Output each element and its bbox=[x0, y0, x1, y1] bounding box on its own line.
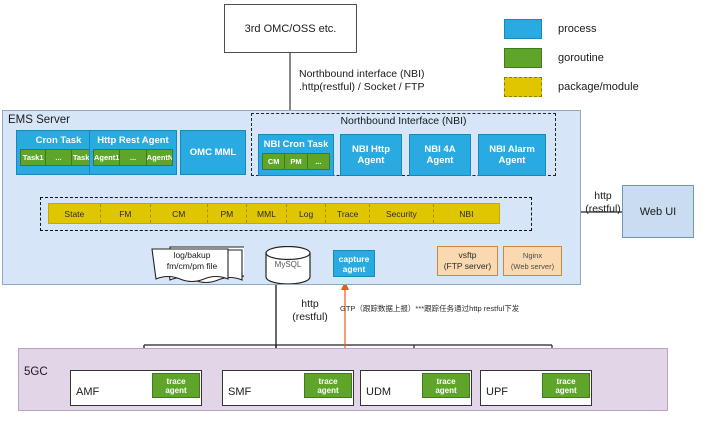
trace-agent-line1: trace bbox=[318, 377, 337, 386]
database-label: MySQL bbox=[264, 260, 312, 269]
trace-agent-line2: agent bbox=[165, 386, 186, 395]
module-pm[interactable]: PM bbox=[208, 204, 248, 223]
service-nginx-desc: (Web server) bbox=[511, 261, 554, 272]
trace-agent-smf[interactable]: trace agent bbox=[304, 373, 352, 398]
goroutine-cell: PM bbox=[285, 154, 307, 169]
service-nginx-box: Nginx (Web server) bbox=[503, 246, 562, 276]
module-security[interactable]: Security bbox=[370, 204, 434, 223]
goroutine-cell: AgentN bbox=[147, 150, 172, 165]
fivegc-title: 5GC bbox=[24, 366, 48, 378]
trace-agent-line1: trace bbox=[436, 377, 455, 386]
legend-label-process: process bbox=[558, 23, 597, 35]
process-nbi-alarm-agent-title: NBI Alarm Agent bbox=[479, 144, 545, 166]
trace-agent-line1: trace bbox=[556, 377, 575, 386]
goroutine-strip-http-rest-agent: Agent1 ... AgentN bbox=[93, 149, 173, 166]
legend-label-goroutine: goroutine bbox=[558, 52, 604, 64]
process-http-rest-agent-title: Http Rest Agent bbox=[90, 135, 176, 146]
trace-agent-line2: agent bbox=[435, 386, 456, 395]
module-log[interactable]: Log bbox=[287, 204, 327, 223]
web-ui-link-line2: (restful) bbox=[582, 203, 624, 216]
goroutine-cell: ... bbox=[308, 154, 329, 169]
module-fm[interactable]: FM bbox=[101, 204, 151, 223]
process-omc-mml[interactable]: OMC MML bbox=[180, 130, 246, 175]
legend-item-goroutine: goroutine bbox=[504, 49, 700, 67]
module-trace[interactable]: Trace bbox=[326, 204, 370, 223]
nbi-interface-note-line1: Northbound interface (NBI) bbox=[299, 68, 499, 81]
trace-agent-upf[interactable]: trace agent bbox=[542, 373, 590, 398]
web-ui-link-note: http (restful) bbox=[582, 190, 624, 216]
trace-agent-line2: agent bbox=[555, 386, 576, 395]
square-swatch-icon bbox=[504, 48, 542, 68]
southbound-http-line1: http bbox=[284, 298, 336, 311]
goroutine-strip-cron-task: Task1 ... TaskN bbox=[20, 149, 97, 166]
process-nbi-cron-task-title: NBI Cron Task bbox=[259, 139, 333, 150]
capture-agent-line2: agent bbox=[343, 264, 366, 274]
nf-label-udm: UDM bbox=[366, 386, 391, 398]
process-nbi-alarm-agent[interactable]: NBI Alarm Agent bbox=[478, 134, 546, 176]
file-stack-label: log/bakup fm/cm/pm file bbox=[152, 250, 232, 272]
file-stack-label-line1: log/bakup bbox=[152, 250, 232, 261]
process-cron-task-title: Cron Task bbox=[17, 135, 100, 146]
module-mml[interactable]: MML bbox=[247, 204, 287, 223]
nbi-interface-note-line2: .http(restful) / Socket / FTP bbox=[299, 81, 499, 94]
nf-label-amf: AMF bbox=[76, 386, 99, 398]
legend-item-package: package/module bbox=[504, 78, 700, 96]
process-nbi-http-agent-title: NBI Http Agent bbox=[341, 144, 401, 166]
trace-agent-line1: trace bbox=[166, 377, 185, 386]
legend-label-package: package/module bbox=[558, 81, 639, 93]
legend: process goroutine package/module bbox=[504, 20, 700, 107]
file-stack-label-line2: fm/cm/pm file bbox=[152, 261, 232, 272]
service-vsftp-box: vsftp (FTP server) bbox=[437, 246, 498, 276]
goroutine-cell: Task1 bbox=[21, 150, 46, 165]
web-ui-label: Web UI bbox=[640, 206, 676, 218]
goroutine-strip-nbi-cron-task: CM PM ... bbox=[262, 153, 330, 170]
nf-label-smf: SMF bbox=[228, 386, 251, 398]
module-nbi[interactable]: NBI bbox=[434, 204, 499, 223]
goroutine-cell: CM bbox=[263, 154, 285, 169]
process-nbi-4a-agent[interactable]: NBI 4A Agent bbox=[409, 134, 471, 176]
trace-agent-line2: agent bbox=[317, 386, 338, 395]
web-ui-box[interactable]: Web UI bbox=[622, 185, 694, 238]
service-vsftp-name: vsftp bbox=[459, 250, 477, 261]
process-nbi-http-agent[interactable]: NBI Http Agent bbox=[340, 134, 402, 176]
module-bar: State FM CM PM MML Log Trace Security NB… bbox=[48, 203, 500, 224]
square-swatch-dashed-icon bbox=[504, 77, 542, 97]
southbound-http-note: http (restful) bbox=[284, 298, 336, 324]
capture-agent-line1: capture bbox=[339, 254, 370, 264]
trace-agent-udm[interactable]: trace agent bbox=[422, 373, 470, 398]
goroutine-cell: ... bbox=[46, 150, 71, 165]
southbound-http-line2: (restful) bbox=[284, 311, 336, 324]
trace-agent-amf[interactable]: trace agent bbox=[152, 373, 200, 398]
capture-agent-box[interactable]: capture agent bbox=[333, 250, 375, 277]
goroutine-cell: Agent1 bbox=[94, 150, 120, 165]
module-cm[interactable]: CM bbox=[151, 204, 208, 223]
goroutine-cell: ... bbox=[120, 150, 146, 165]
external-omc-oss-label: 3rd OMC/OSS etc. bbox=[245, 23, 337, 35]
process-nbi-4a-agent-title: NBI 4A Agent bbox=[410, 144, 470, 166]
ems-server-title: EMS Server bbox=[8, 114, 70, 126]
square-swatch-icon bbox=[504, 19, 542, 39]
web-ui-link-line1: http bbox=[582, 190, 624, 203]
module-state[interactable]: State bbox=[49, 204, 101, 223]
service-nginx-name: Nginx bbox=[523, 250, 542, 261]
external-omc-oss-box: 3rd OMC/OSS etc. bbox=[224, 4, 357, 53]
nf-label-upf: UPF bbox=[486, 386, 508, 398]
gtp-note: GTP（跟踪数据上报）***跟踪任务通过http restful下发 bbox=[340, 303, 519, 314]
nbi-group-title: Northbound Interface (NBI) bbox=[251, 115, 556, 127]
process-nbi-cron-task[interactable]: NBI Cron Task CM PM ... bbox=[258, 134, 334, 176]
service-vsftp-desc: (FTP server) bbox=[444, 261, 492, 272]
legend-item-process: process bbox=[504, 20, 700, 38]
process-http-rest-agent[interactable]: Http Rest Agent Agent1 ... AgentN bbox=[89, 130, 177, 175]
nbi-interface-note: Northbound interface (NBI) .http(restful… bbox=[299, 68, 499, 94]
process-omc-mml-title: OMC MML bbox=[181, 147, 245, 158]
